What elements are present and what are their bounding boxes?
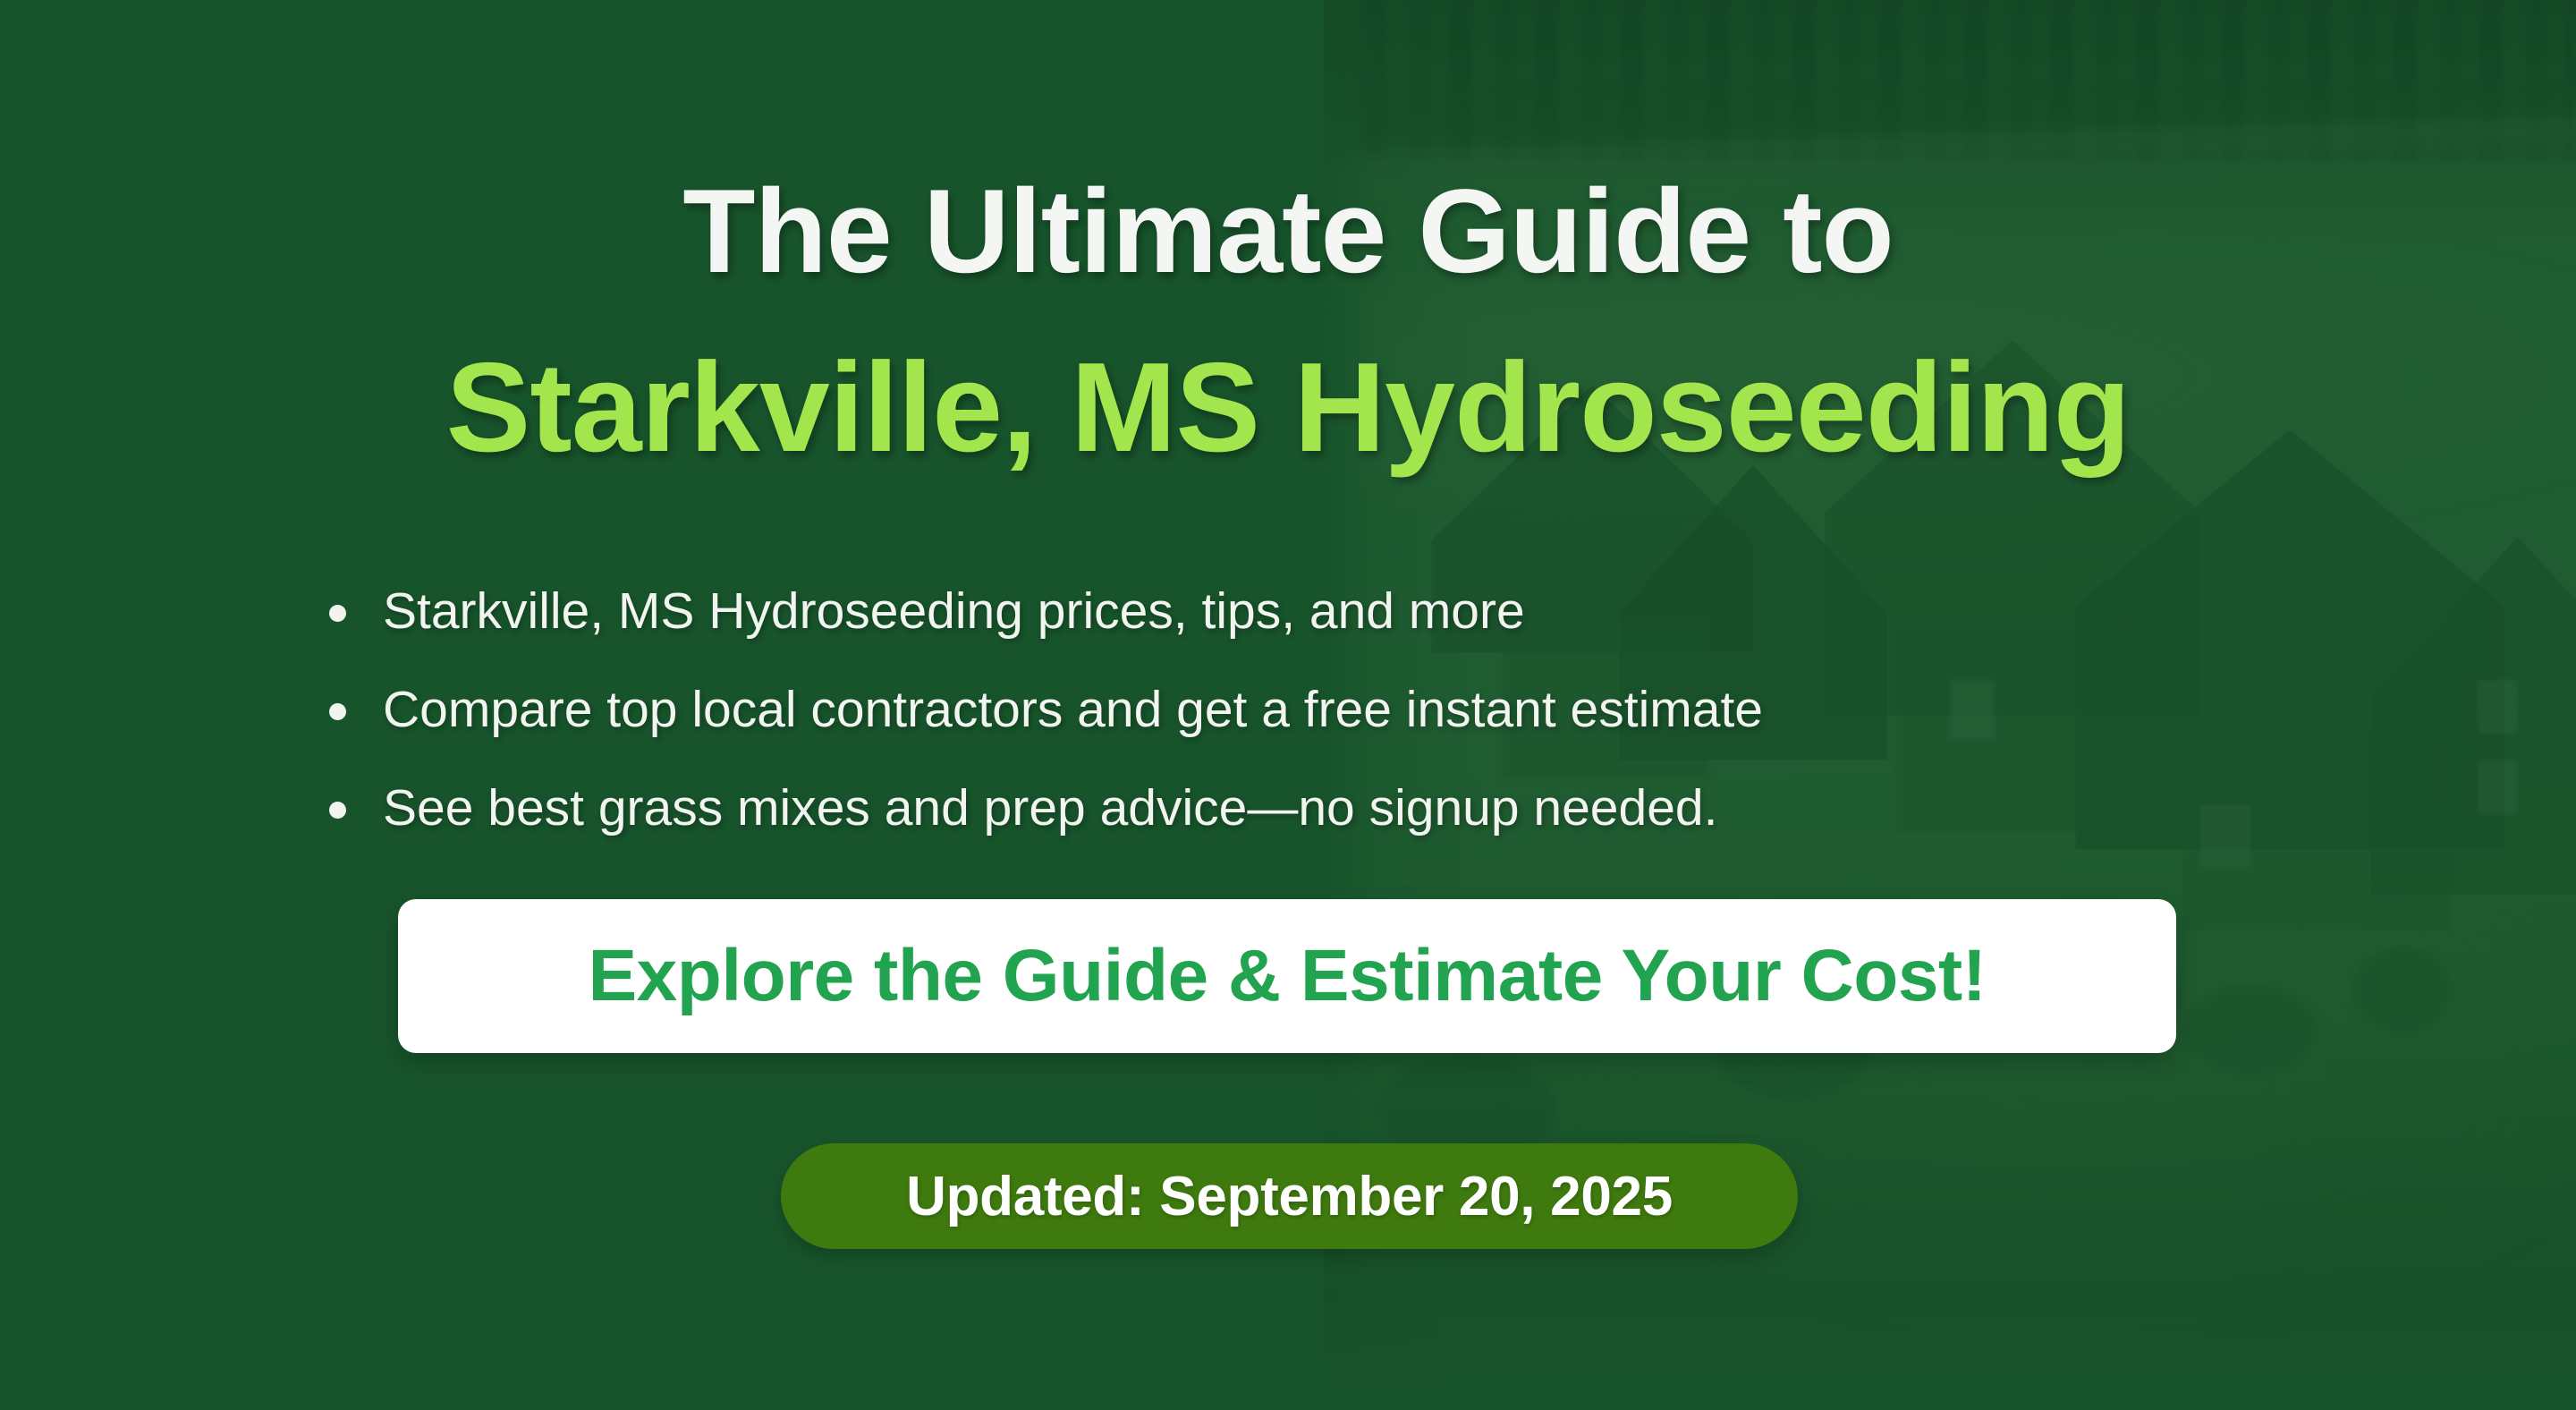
list-item: See best grass mixes and prep advice—no … — [322, 783, 2290, 834]
updated-date-badge: Updated: September 20, 2025 — [781, 1143, 1798, 1249]
feature-bullet-list: Starkville, MS Hydroseeding prices, tips… — [322, 586, 2290, 881]
updated-date-label: Updated: September 20, 2025 — [906, 1165, 1673, 1228]
headline-line-1: The Ultimate Guide to — [0, 173, 2576, 292]
bullet-dot-icon — [329, 703, 346, 720]
list-item-label: Compare top local contractors and get a … — [383, 681, 1763, 738]
list-item-label: See best grass mixes and prep advice—no … — [383, 779, 1717, 837]
hero-banner: The Ultimate Guide to Starkville, MS Hyd… — [0, 0, 2576, 1410]
headline-line-2: Starkville, MS Hydroseeding — [0, 344, 2576, 471]
list-item-label: Starkville, MS Hydroseeding prices, tips… — [383, 582, 1525, 640]
bullet-dot-icon — [329, 802, 346, 819]
explore-guide-cta-button[interactable]: Explore the Guide & Estimate Your Cost! — [398, 899, 2176, 1053]
banner-content: The Ultimate Guide to Starkville, MS Hyd… — [0, 0, 2576, 1410]
cta-button-label: Explore the Guide & Estimate Your Cost! — [588, 934, 1986, 1018]
list-item: Starkville, MS Hydroseeding prices, tips… — [322, 586, 2290, 637]
bullet-dot-icon — [329, 605, 346, 622]
list-item: Compare top local contractors and get a … — [322, 684, 2290, 735]
